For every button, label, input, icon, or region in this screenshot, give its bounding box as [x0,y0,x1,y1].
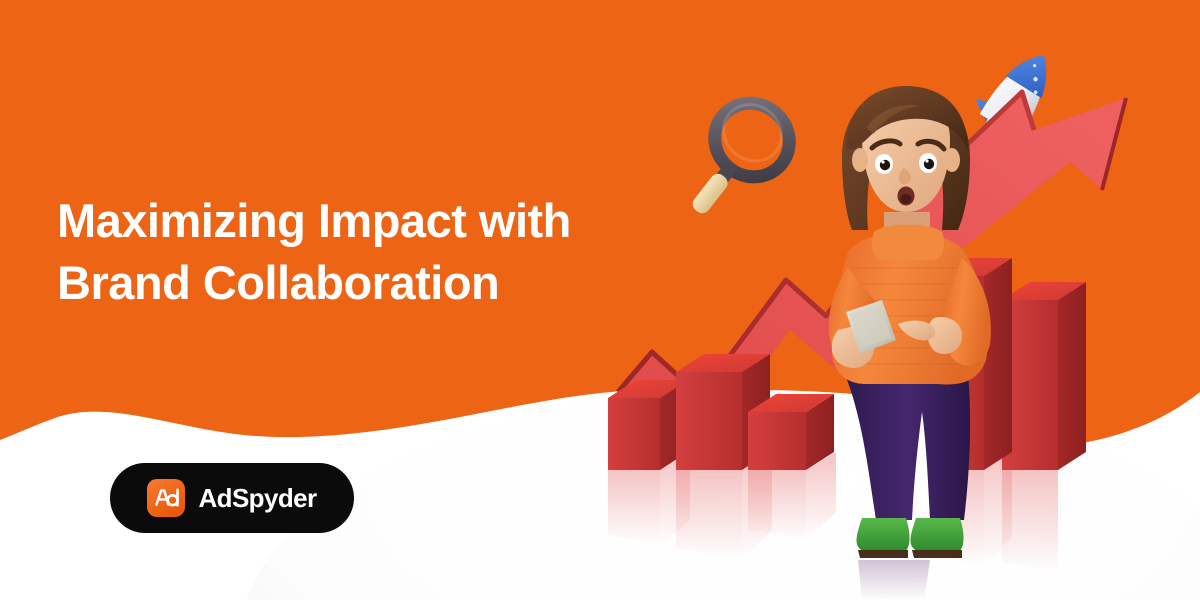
bar-3 [748,394,834,470]
page-title: Maximizing Impact with Brand Collaborati… [57,190,697,314]
floor-reflections [608,452,1058,600]
bar-5 [1002,282,1086,470]
shoe-right [911,518,964,558]
shoe-left [857,518,910,558]
promo-banner: Maximizing Impact with Brand Collaborati… [0,0,1200,600]
character-illustration [829,86,991,558]
adspyder-logo[interactable]: AdSpyder [110,463,354,533]
adspyder-mark-icon [147,479,185,517]
adspyder-wordmark: AdSpyder [198,483,316,514]
